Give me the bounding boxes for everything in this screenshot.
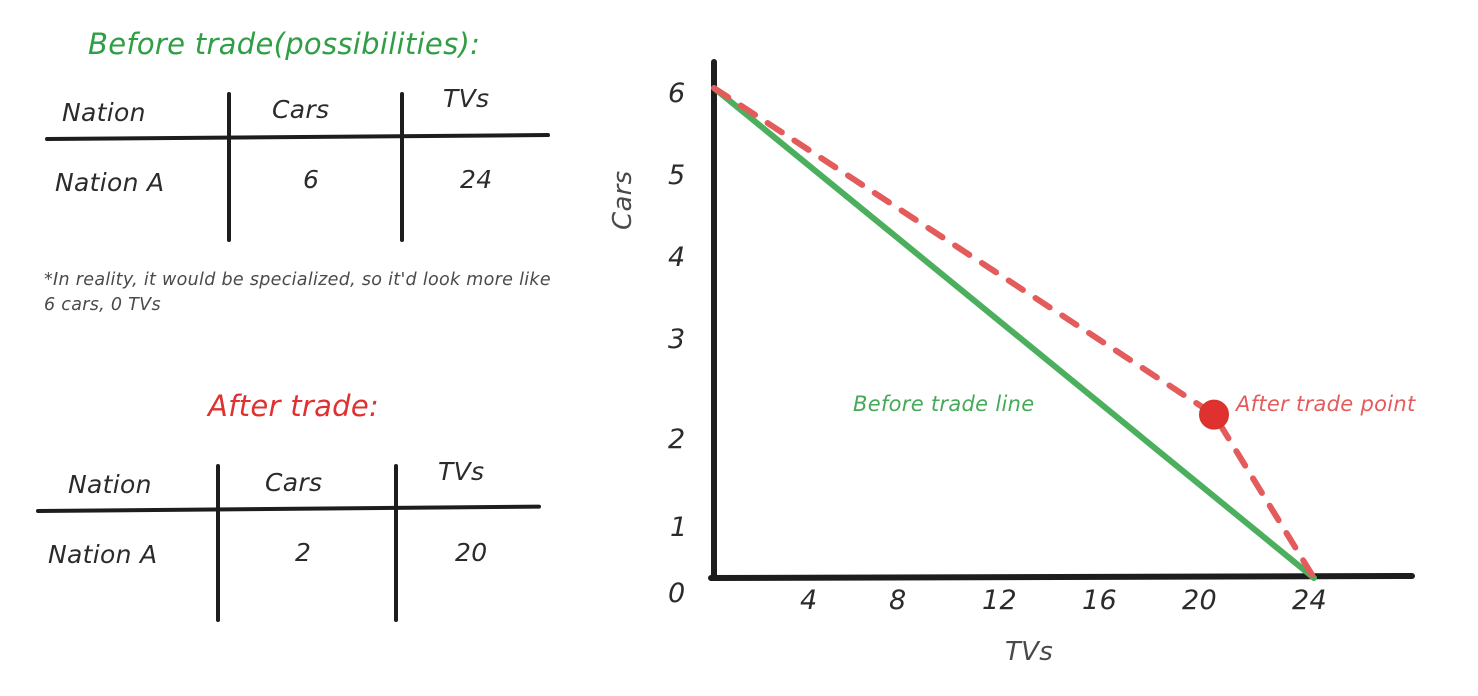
x-tick-16: 16 xyxy=(1082,585,1117,616)
table-column-divider-2 xyxy=(400,92,404,242)
tables-panel: Before trade(possibilities): Nation Cars… xyxy=(0,0,620,696)
x-tick-24: 24 xyxy=(1292,585,1327,616)
table-cell-cars: 6 xyxy=(303,165,319,194)
ppf-chart: 6 5 4 3 2 1 0 4 8 12 16 20 24 Cars TVs B… xyxy=(600,0,1478,696)
x-axis-line xyxy=(711,576,1412,578)
x-tick-12: 12 xyxy=(982,585,1017,616)
table-header-cars: Cars xyxy=(272,95,329,124)
x-axis-title: TVs xyxy=(1005,637,1053,667)
table-cell-nation: Nation A xyxy=(48,540,157,569)
table-cell-nation: Nation A xyxy=(55,168,164,197)
table-header-rule xyxy=(36,505,541,513)
y-tick-0: 0 xyxy=(668,578,685,609)
table-header-nation: Nation xyxy=(62,98,146,127)
y-tick-1: 1 xyxy=(670,512,687,543)
y-tick-4: 4 xyxy=(668,242,685,273)
x-tick-4: 4 xyxy=(800,585,817,616)
table-header-nation: Nation xyxy=(68,470,152,499)
x-tick-20: 20 xyxy=(1182,585,1217,616)
y-axis-title: Cars xyxy=(608,170,638,230)
y-tick-5: 5 xyxy=(668,160,685,191)
y-tick-6: 6 xyxy=(668,78,685,109)
chart-canvas xyxy=(600,0,1478,696)
before-trade-title: Before trade(possibilities): xyxy=(88,27,480,61)
table-column-divider-1 xyxy=(227,92,231,242)
before-trade-line xyxy=(714,88,1314,578)
y-tick-2: 2 xyxy=(668,424,685,455)
table-header-rule xyxy=(45,133,550,141)
table-cell-tvs: 20 xyxy=(455,538,487,567)
after-trade-title: After trade: xyxy=(208,389,379,423)
table-header-tvs: TVs xyxy=(443,84,489,113)
table-column-divider-2 xyxy=(394,464,398,622)
y-tick-3: 3 xyxy=(668,324,685,355)
x-tick-8: 8 xyxy=(889,585,906,616)
after-trade-point-marker xyxy=(1200,401,1228,429)
table-header-cars: Cars xyxy=(265,468,322,497)
table-cell-tvs: 24 xyxy=(460,165,492,194)
table-column-divider-1 xyxy=(216,464,220,622)
table-header-tvs: TVs xyxy=(438,457,484,486)
table-cell-cars: 2 xyxy=(295,538,311,567)
footnote-text: *In reality, it would be specialized, so… xyxy=(44,268,564,319)
before-trade-line-label: Before trade line xyxy=(853,392,1034,416)
after-trade-point-label: After trade point xyxy=(1236,392,1416,416)
